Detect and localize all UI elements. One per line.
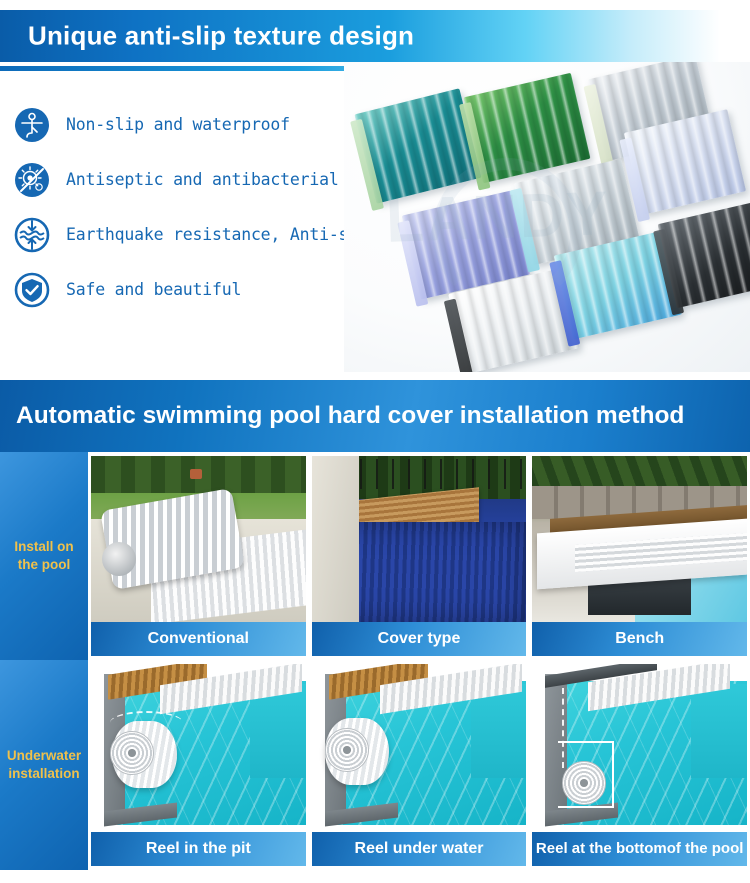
cell-caption-line1: Reel at the bottom <box>536 841 667 857</box>
bench-photo <box>532 456 747 622</box>
sidebar-label-line1: Underwater <box>7 748 81 763</box>
anti-slip-person-icon <box>14 107 50 143</box>
cell-cover-type[interactable]: Cover type <box>309 452 530 660</box>
reel-in-the-pit-diagram <box>91 664 306 832</box>
underwater-installation-row: Reel in the pit Reel under water <box>88 660 750 870</box>
conventional-photo <box>91 456 306 622</box>
anti-slip-texture-section: Unique anti-slip texture design Non-slip… <box>0 0 750 378</box>
polycarbonate-slat-samples-photo: LANDY <box>344 62 750 372</box>
sidebar-underwater-installation: Underwater installation <box>0 660 88 870</box>
reel-at-bottom-of-pool-diagram <box>532 664 747 832</box>
sidebar-label: Underwater installation <box>2 747 86 783</box>
cell-caption: Reel in the pit <box>91 832 306 866</box>
section-one-banner: Unique anti-slip texture design <box>0 10 750 62</box>
install-on-pool-row: Conventional Cover type <box>88 452 750 660</box>
bottom-white-strip <box>0 873 750 883</box>
section-two-title: Automatic swimming pool hard cover insta… <box>16 402 684 430</box>
cell-caption-line2: of the pool <box>667 841 744 857</box>
feature-label: Antiseptic and antibacterial <box>66 170 339 189</box>
wave-pressure-icon <box>14 217 50 253</box>
cover-type-photo <box>312 456 527 622</box>
page-title: Unique anti-slip texture design <box>28 21 414 52</box>
sidebar-label-line2: the pool <box>18 557 71 572</box>
cell-caption: Bench <box>532 622 747 656</box>
cell-reel-under-water[interactable]: Reel under water <box>309 660 530 870</box>
cell-caption: Reel at the bottom of the pool <box>532 832 747 866</box>
shield-check-icon <box>14 272 50 308</box>
cell-caption: Conventional <box>91 622 306 656</box>
sidebar-label-line1: Install on <box>14 539 73 554</box>
sidebar-install-on-the-pool: Install on the pool <box>0 452 88 660</box>
reel-under-water-diagram <box>312 664 527 832</box>
anti-bacteria-icon <box>14 162 50 198</box>
cell-caption: Reel under water <box>312 832 527 866</box>
product-feature-page: Unique anti-slip texture design Non-slip… <box>0 0 750 883</box>
cell-caption: Cover type <box>312 622 527 656</box>
installation-method-section: Automatic swimming pool hard cover insta… <box>0 380 750 883</box>
feature-label: Non-slip and waterproof <box>66 115 290 134</box>
sidebar-label-line2: installation <box>8 766 79 781</box>
cell-reel-in-the-pit[interactable]: Reel in the pit <box>88 660 309 870</box>
cell-conventional[interactable]: Conventional <box>88 452 309 660</box>
sidebar-label: Install on the pool <box>9 538 78 574</box>
section-two-banner: Automatic swimming pool hard cover insta… <box>0 380 750 452</box>
feature-label: Safe and beautiful <box>66 280 241 299</box>
cell-reel-at-bottom-of-pool[interactable]: Reel at the bottom of the pool <box>529 660 750 870</box>
cell-bench[interactable]: Bench <box>529 452 750 660</box>
installation-grid: Install on the pool Conventional <box>0 452 750 870</box>
